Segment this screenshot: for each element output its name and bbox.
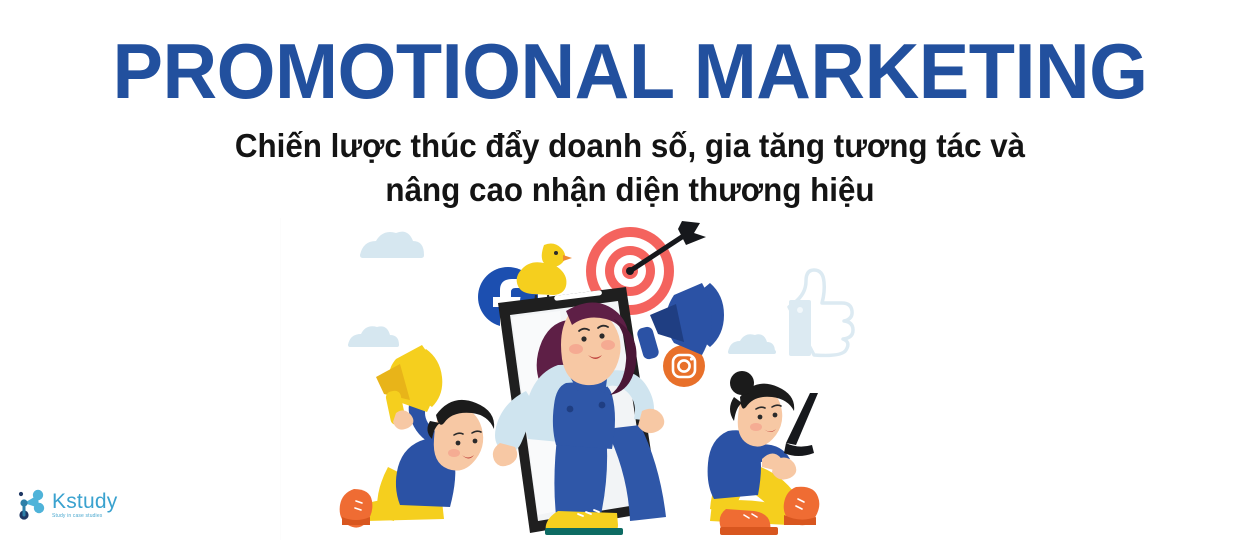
cloud-right bbox=[728, 334, 776, 354]
kstudy-logo-tagline: Study in case studies bbox=[52, 514, 117, 519]
cloud-top-left bbox=[360, 232, 424, 258]
laptop-woman-shoe-front bbox=[784, 487, 820, 526]
kstudy-logo-word: Kstudy bbox=[52, 491, 117, 512]
social-media-marketing-illustration bbox=[330, 215, 950, 540]
thumbs-up-icon bbox=[789, 270, 853, 356]
page-title: PROMOTIONAL MARKETING bbox=[19, 34, 1241, 108]
promotional-marketing-banner: PROMOTIONAL MARKETING Chiến lược thúc đẩ… bbox=[0, 0, 1260, 540]
kstudy-logo[interactable]: Kstudy Study in case studies bbox=[16, 488, 117, 522]
heading-block: PROMOTIONAL MARKETING Chiến lược thúc đẩ… bbox=[0, 0, 1260, 211]
kstudy-molecule-icon bbox=[16, 488, 46, 522]
woman-with-laptop bbox=[708, 371, 820, 535]
page-subtitle-line-1: Chiến lược thúc đẩy doanh số, gia tăng t… bbox=[32, 124, 1229, 168]
yellow-megaphone-icon bbox=[376, 345, 442, 430]
page-subtitle: Chiến lược thúc đẩy doanh số, gia tăng t… bbox=[32, 124, 1229, 211]
page-subtitle-line-2: nâng cao nhận diện thương hiệu bbox=[32, 168, 1229, 212]
woman-shoe bbox=[545, 510, 623, 535]
image-plate-edge bbox=[280, 218, 281, 540]
cloud-bottom-left bbox=[348, 326, 399, 347]
man-with-megaphone bbox=[340, 345, 495, 528]
man-shoe bbox=[340, 489, 373, 528]
